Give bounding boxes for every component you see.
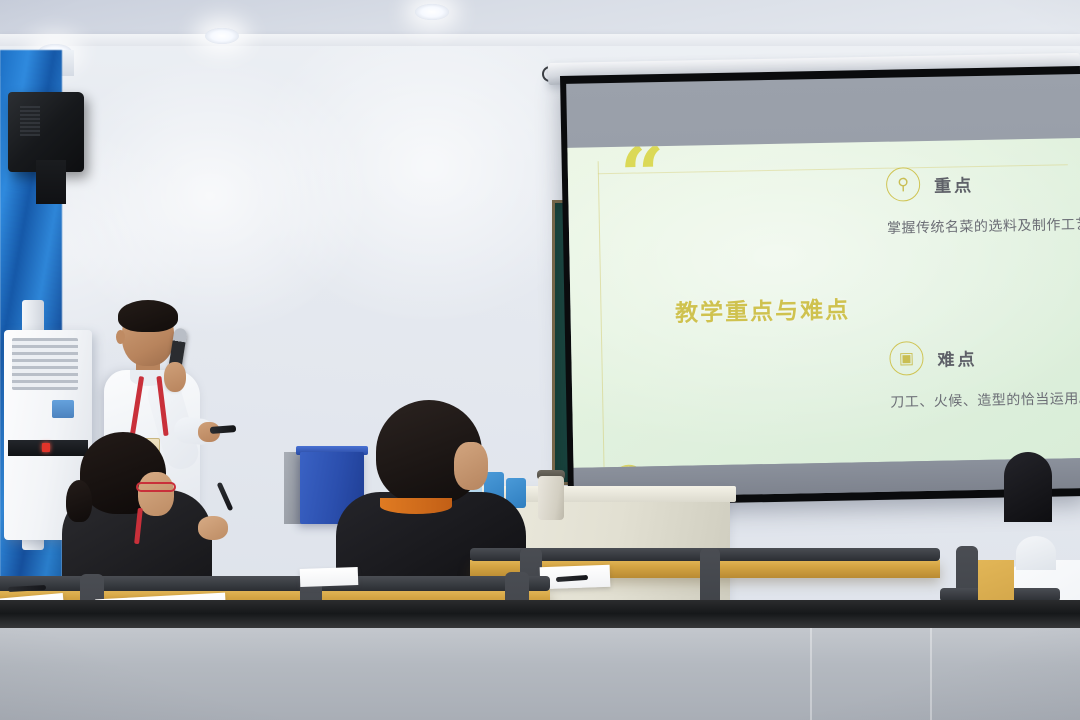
ceiling-downlight [205, 28, 239, 44]
ac-vent-louvers [12, 338, 78, 390]
attendee-ponytail [66, 480, 92, 522]
projected-slide: “ 教学重点与难点 ⚲ 重点 掌握传统名菜的选料及制作工艺。 ▣ 难点 刀工、火… [567, 138, 1080, 468]
classroom-photo: “ 教学重点与难点 ⚲ 重点 掌握传统名菜的选料及制作工艺。 ▣ 难点 刀工、火… [0, 0, 1080, 720]
attendee-face [454, 442, 488, 490]
pen [217, 482, 234, 511]
note-paper [300, 567, 359, 587]
section-heading: ▣ 难点 [889, 337, 1080, 375]
speaker-bracket [36, 160, 66, 204]
slide-section-key-points: ⚲ 重点 掌握传统名菜的选料及制作工艺。 [886, 163, 1080, 239]
magnifier-icon: ⚲ [886, 167, 921, 202]
projection-screen: “ 教学重点与难点 ⚲ 重点 掌握传统名菜的选料及制作工艺。 ▣ 难点 刀工、火… [560, 66, 1080, 506]
presenter-hair [118, 300, 178, 332]
floor-tile-seam [810, 628, 812, 720]
presenter-ear [116, 330, 125, 344]
slide-section-difficult-points: ▣ 难点 刀工、火候、造型的恰当运用。 [889, 337, 1080, 413]
screen-surface: “ 教学重点与难点 ⚲ 重点 掌握传统名菜的选料及制作工艺。 ▣ 难点 刀工、火… [566, 74, 1080, 498]
quote-mark-icon: “ [619, 152, 665, 201]
eyeglasses-icon [136, 482, 176, 492]
section-body: 掌握传统名菜的选料及制作工艺。 [887, 213, 1080, 239]
section-body: 刀工、火候、造型的恰当运用。 [890, 387, 1080, 413]
section-heading: ⚲ 重点 [886, 163, 1080, 201]
stamp-icon: ▣ [889, 341, 924, 376]
wall-baseboard [0, 600, 1080, 630]
section-label: 重点 [934, 171, 974, 197]
ceiling-downlight [415, 4, 449, 20]
presenter-hand [164, 362, 186, 392]
slide-title: 教学重点与难点 [632, 290, 893, 329]
thermos-cup [538, 476, 564, 520]
ac-label [52, 400, 74, 418]
ac-power-led-icon [42, 443, 50, 452]
lanyard-strap [380, 498, 452, 514]
speaker-grille-icon [20, 106, 40, 136]
floor-tile-seam [930, 628, 932, 720]
attendee-collar [1016, 536, 1056, 570]
attendee-face [138, 472, 174, 516]
floor [0, 628, 1080, 720]
attendee-hand [198, 516, 228, 540]
section-label: 难点 [937, 345, 977, 371]
attendee-shoulder-dark [1004, 452, 1052, 522]
